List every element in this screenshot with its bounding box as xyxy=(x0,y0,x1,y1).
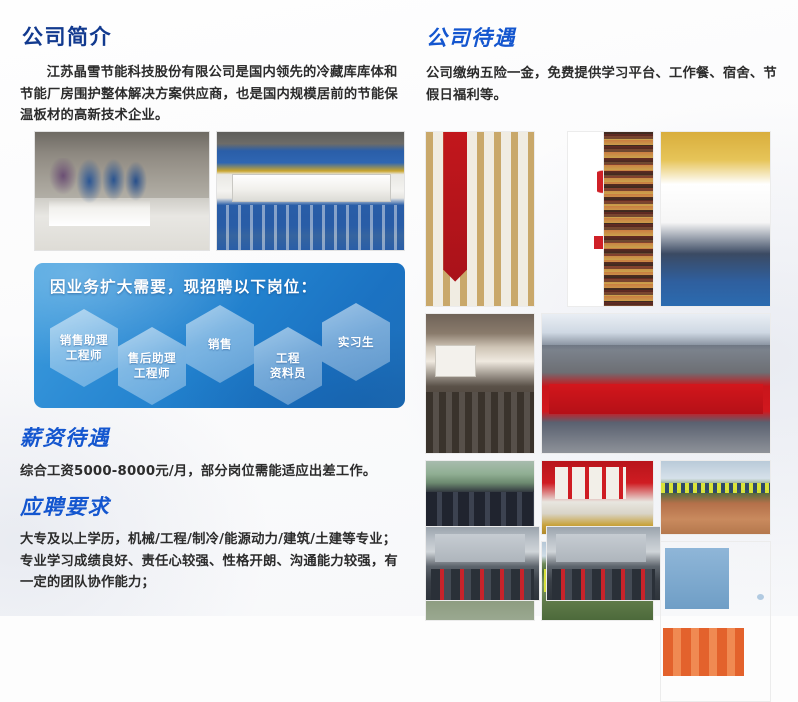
award-photo-row xyxy=(425,526,661,601)
salary-heading: 薪资待遇 xyxy=(20,428,110,449)
requirements-paragraph: 大专及以上学历，机械/工程/制冷/能源动力/建筑/土建等专业；专业学习成绩良好、… xyxy=(20,529,408,594)
position-hexagon[interactable]: 销售 xyxy=(186,305,254,383)
factory-photo-pair xyxy=(34,131,405,251)
company-intro-paragraph: 江苏晶雪节能科技股份有限公司是国内领先的冷藏库库体和节能厂房围护整体解决方案供应… xyxy=(20,62,402,127)
gallery-photo-signing-ceremony xyxy=(541,313,771,454)
position-label-line1: 实习生 xyxy=(338,335,374,350)
company-intro-heading: 公司简介 xyxy=(22,27,112,48)
gallery-photo-award-ceremony-2 xyxy=(546,526,661,601)
gallery-photo-award-ceremony-1 xyxy=(425,526,540,601)
jobs-box-title: 因业务扩大需要，现招聘以下岗位： xyxy=(50,275,317,297)
position-label-line1: 工程 xyxy=(276,351,300,366)
photo-workers-panel-line xyxy=(34,131,210,251)
gallery-photo-red-wall-event xyxy=(541,460,654,535)
position-label-line1: 销售 xyxy=(208,337,232,352)
gallery-photo-expo-booth xyxy=(660,131,771,307)
gallery-photo-team-suits-outdoor xyxy=(425,460,535,535)
requirements-heading: 应聘要求 xyxy=(20,497,110,518)
photo-conveyor-machinery xyxy=(216,131,405,251)
benefits-paragraph: 公司缴纳五险一金，免费提供学习平台、工作餐、宿舍、节假日福利等。 xyxy=(426,63,788,106)
position-hexagon[interactable]: 售后助理 工程师 xyxy=(118,327,186,405)
position-hexagon[interactable]: 工程 资料员 xyxy=(254,327,322,405)
gallery-photo-conference-room xyxy=(425,313,535,454)
gallery-photo-sports-field xyxy=(660,460,771,535)
position-hexagon[interactable]: 销售助理 工程师 xyxy=(50,309,118,387)
position-label-line2: 工程师 xyxy=(66,348,102,363)
gallery-photo-patent-wall xyxy=(425,131,535,307)
salary-paragraph: 综合工资5000-8000元/月，部分岗位需能适应出差工作。 xyxy=(20,461,408,483)
position-label-line2: 资料员 xyxy=(270,366,306,381)
gallery-photo-product-shelf xyxy=(603,131,654,307)
benefits-heading: 公司待遇 xyxy=(426,28,516,49)
jobs-announcement-box: 因业务扩大需要，现招聘以下岗位： 销售助理 工程师 售后助理 工程师 销售 工程… xyxy=(34,263,405,408)
position-label-line1: 售后助理 xyxy=(128,351,176,366)
left-column: 公司简介 江苏晶雪节能科技股份有限公司是国内领先的冷藏库库体和节能厂房围护整体解… xyxy=(14,0,414,616)
position-label-line2: 工程师 xyxy=(134,366,170,381)
gallery-photo-orange-boxes-booth xyxy=(660,541,771,702)
position-label-line1: 销售助理 xyxy=(60,333,108,348)
brochure-page: 公司简介 江苏晶雪节能科技股份有限公司是国内领先的冷藏库库体和节能厂房围护整体解… xyxy=(0,0,798,616)
position-hexagon[interactable]: 实习生 xyxy=(322,303,390,381)
scan-artifact-speck xyxy=(757,594,764,600)
